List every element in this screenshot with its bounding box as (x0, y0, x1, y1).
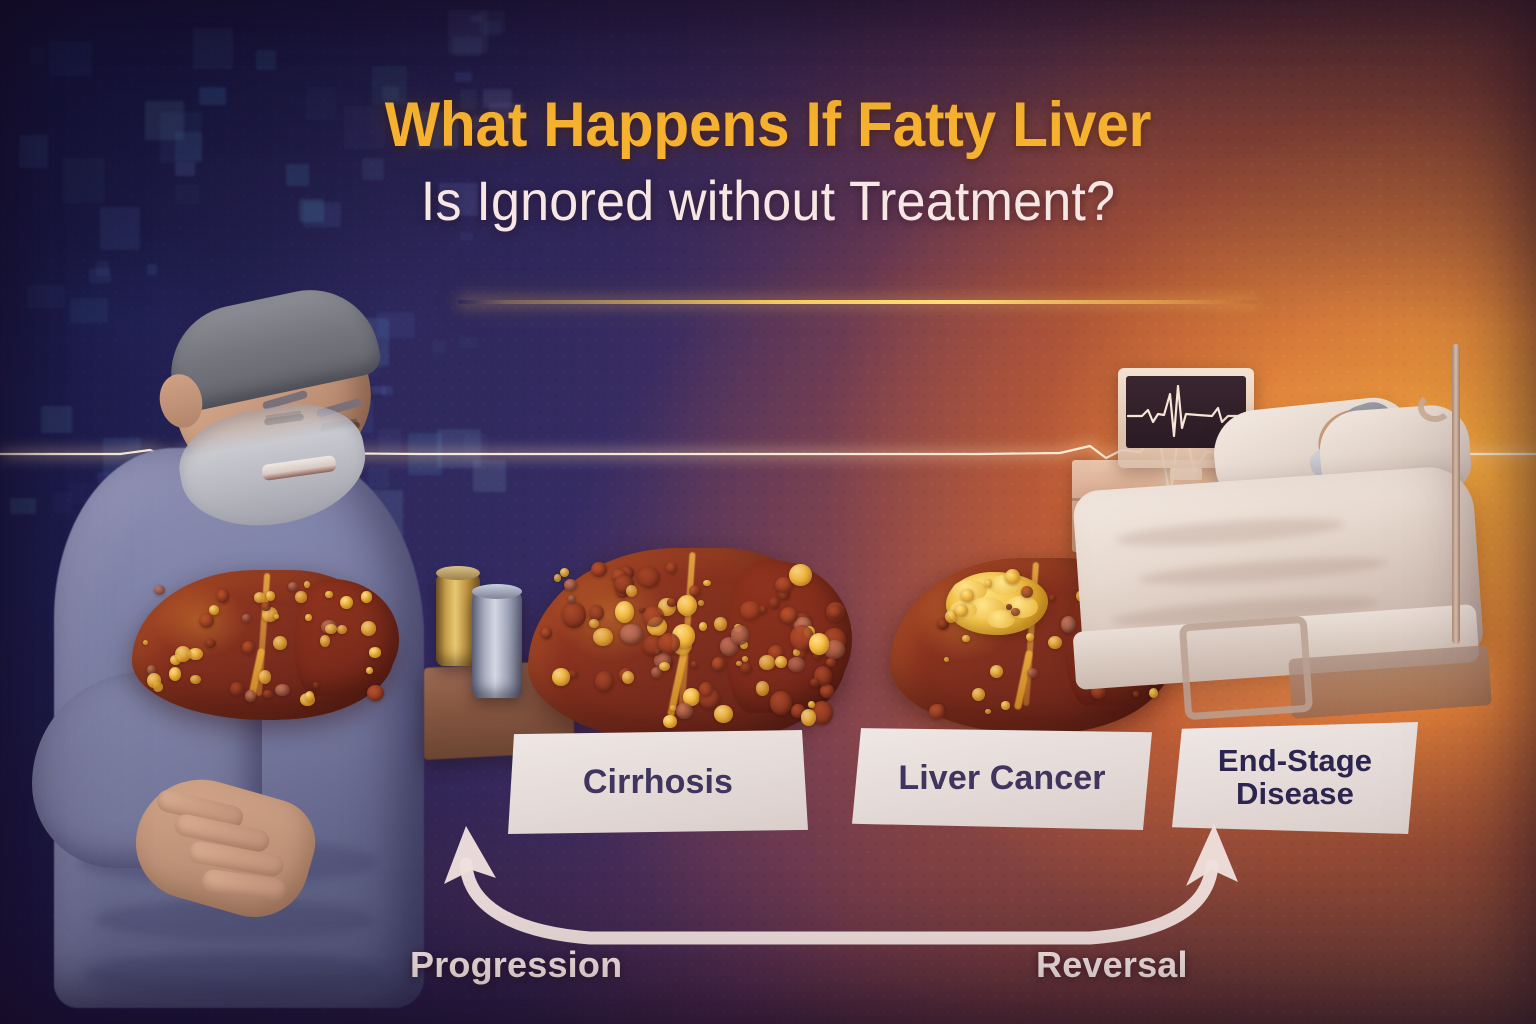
liver-nodule (769, 597, 780, 609)
liver-nodule (261, 602, 271, 611)
fat-globule (808, 701, 815, 708)
fat-globule (698, 600, 704, 606)
fat-globule (714, 705, 733, 723)
fat-globule (622, 671, 634, 684)
fat-globule (663, 715, 676, 728)
liver-nodule (154, 585, 165, 595)
iv-hook (1418, 392, 1452, 422)
fat-globule (266, 591, 276, 601)
fat-globule (615, 601, 635, 623)
liver-nodule (676, 703, 693, 718)
man-in-pain-figure (24, 300, 454, 1024)
bokeh-pixel (459, 337, 478, 349)
liver-nodule (740, 601, 760, 621)
fat-globule (759, 655, 775, 670)
shirt-fold (84, 952, 384, 998)
fat-globule (295, 591, 307, 603)
infographic-poster: What Happens If Fatty Liver Is Ignored w… (0, 0, 1536, 1024)
liver-nodule (591, 562, 607, 577)
liver-nodule (658, 633, 681, 654)
fat-globule (961, 589, 974, 602)
liver-nodule (242, 614, 250, 622)
liver-nodule (263, 690, 273, 698)
fat-globule (985, 579, 993, 587)
bokeh-pixel (193, 28, 233, 70)
stage-label-end-stage-line1: End-Stage (1218, 743, 1372, 778)
fat-globule (560, 568, 569, 577)
liver-nodule (242, 641, 255, 654)
liver-nodule (770, 691, 792, 714)
stage-card-end-stage[interactable]: End-Stage Disease (1172, 722, 1418, 834)
liver-nodule (562, 602, 586, 627)
monitor-stand (1170, 468, 1202, 480)
stage-label-cirrhosis: Cirrhosis (583, 764, 733, 800)
liver-nodule (667, 598, 678, 607)
liver-nodule (564, 579, 577, 591)
liver-nodule (666, 562, 677, 573)
fat-globule (589, 619, 598, 628)
beverage-can-lid (472, 584, 522, 599)
bokeh-pixel (49, 41, 92, 76)
liver-nodule (275, 684, 290, 696)
fat-globule (325, 591, 333, 599)
beverage-can-lid (436, 566, 480, 580)
fat-globule (801, 709, 816, 726)
flow-label-reversal: Reversal (1036, 944, 1188, 986)
title-block: What Happens If Fatty Liver Is Ignored w… (0, 92, 1536, 231)
bokeh-pixel (29, 46, 44, 64)
bokeh-pixel (256, 50, 276, 70)
stage-label-end-stage-line2: Disease (1236, 776, 1354, 811)
fat-globule (809, 633, 829, 655)
fat-globule (1005, 569, 1019, 584)
bokeh-pixel (460, 232, 473, 241)
bokeh-pixel (455, 72, 472, 82)
liver-nodule (929, 704, 944, 719)
progression-reversal-arrows (400, 820, 1280, 960)
liver-nodule (691, 661, 698, 668)
liver-nodule (731, 625, 750, 645)
liver-nodule (620, 624, 643, 644)
blanket-fold (1115, 513, 1346, 551)
liver-nodule (1011, 608, 1020, 616)
liver-nodule (712, 657, 725, 671)
fat-globule (670, 705, 677, 711)
bokeh-pixel (147, 264, 157, 275)
stage-label-end-stage: End-Stage Disease (1218, 745, 1372, 811)
liver-nodule (217, 589, 229, 603)
liver-nodule (788, 657, 805, 672)
fat-globule (169, 667, 181, 681)
double-arrow-svg (400, 820, 1280, 960)
iv-pole (1452, 344, 1460, 644)
fat-globule (361, 591, 373, 603)
fat-globule (626, 585, 637, 597)
fat-globule (325, 624, 337, 634)
fatty-liver-overlay (132, 570, 394, 720)
bed-side-rail (1179, 616, 1313, 721)
flow-label-progression: Progression (410, 944, 622, 986)
fat-globule (274, 614, 279, 618)
fat-globule (789, 564, 812, 586)
fat-globule (304, 581, 310, 588)
fat-globule (254, 592, 266, 603)
liver-nodule (245, 690, 256, 702)
liver-nodule (595, 671, 614, 692)
poster-subtitle: Is Ignored without Treatment? (54, 171, 1482, 231)
fat-globule (1001, 701, 1010, 709)
fat-globule (659, 662, 670, 671)
bokeh-pixel (89, 268, 111, 282)
liver-nodule (288, 582, 298, 591)
stage-card-liver-cancer[interactable]: Liver Cancer (852, 726, 1152, 830)
fat-globule (143, 640, 148, 645)
blanket-fold (1138, 552, 1389, 589)
title-divider-line (458, 300, 1258, 304)
fat-globule (190, 675, 201, 685)
fat-globule (775, 656, 787, 668)
bokeh-pixel (448, 10, 488, 53)
bed-frame (1288, 645, 1492, 719)
liver-nodule (313, 682, 319, 688)
cirrhotic-liver-specimen (528, 548, 846, 744)
fat-globule (175, 646, 191, 662)
liver-nodule (541, 627, 552, 639)
fat-globule (756, 681, 769, 695)
poster-title: What Happens If Fatty Liver (54, 92, 1482, 159)
stage-label-liver-cancer: Liver Cancer (898, 760, 1105, 796)
hospital-bed-scene (1060, 352, 1536, 772)
liver-nodule (643, 606, 665, 627)
beverage-can-silver (472, 590, 522, 698)
fat-globule (554, 574, 561, 582)
liver-nodule (637, 567, 659, 588)
fat-globule (369, 647, 380, 657)
fat-globule (699, 622, 707, 630)
stage-card-cirrhosis[interactable]: Cirrhosis (508, 730, 808, 834)
liver-nodule (367, 685, 384, 701)
